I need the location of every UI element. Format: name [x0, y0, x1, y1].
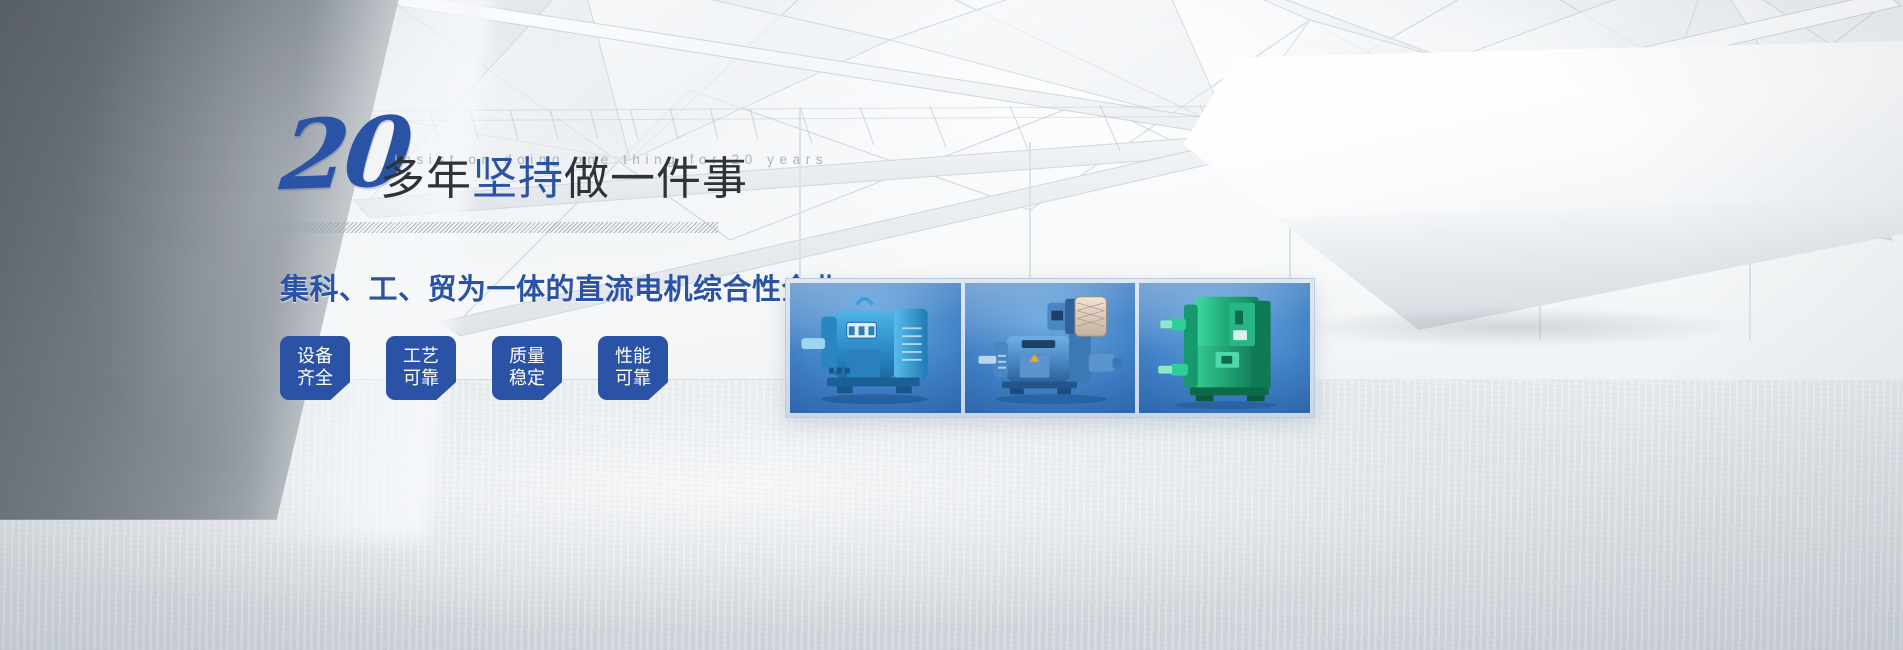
badge-line-1: 质量	[509, 346, 545, 368]
dc-motor-blue-with-blower-icon	[965, 283, 1136, 413]
promotional-banner: 20 Insist on doing one thing for 20 year…	[0, 0, 1903, 650]
dc-motor-blue-large-icon	[790, 283, 961, 413]
badge-line-2: 可靠	[615, 368, 651, 390]
feature-badge: 工艺 可靠	[386, 336, 456, 400]
badge-line-1: 工艺	[403, 346, 439, 368]
badge-line-1: 设备	[297, 346, 333, 368]
headline-highlight: 坚持	[472, 152, 564, 205]
product-cell-dc-motor-blue-large	[790, 283, 961, 413]
chinese-headline: 多年坚持做一件事	[380, 156, 748, 201]
feature-badge: 质量 稳定	[492, 336, 562, 400]
feature-badge-list: 设备 齐全 工艺 可靠 质量 稳定 性能 可靠	[280, 336, 668, 400]
product-cell-dc-motor-green-vertical	[1139, 283, 1310, 413]
headline-row: 20 Insist on doing one thing for 20 year…	[268, 118, 928, 202]
product-cell-dc-motor-blue-with-blower	[965, 283, 1136, 413]
headline-prefix: 多年	[380, 152, 472, 205]
hatched-divider	[272, 222, 718, 233]
badge-line-2: 齐全	[297, 368, 333, 390]
product-showcase	[785, 278, 1315, 418]
dc-motor-green-vertical-icon	[1139, 283, 1310, 413]
headline-suffix: 做一件事	[564, 152, 748, 205]
badge-line-1: 性能	[615, 346, 651, 368]
feature-badge: 设备 齐全	[280, 336, 350, 400]
subheadline: 集科、工、贸为一体的直流电机综合性企业	[280, 266, 841, 308]
copy-block: 20 Insist on doing one thing for 20 year…	[268, 118, 928, 202]
feature-badge: 性能 可靠	[598, 336, 668, 400]
badge-line-2: 稳定	[509, 368, 545, 390]
badge-line-2: 可靠	[403, 368, 439, 390]
